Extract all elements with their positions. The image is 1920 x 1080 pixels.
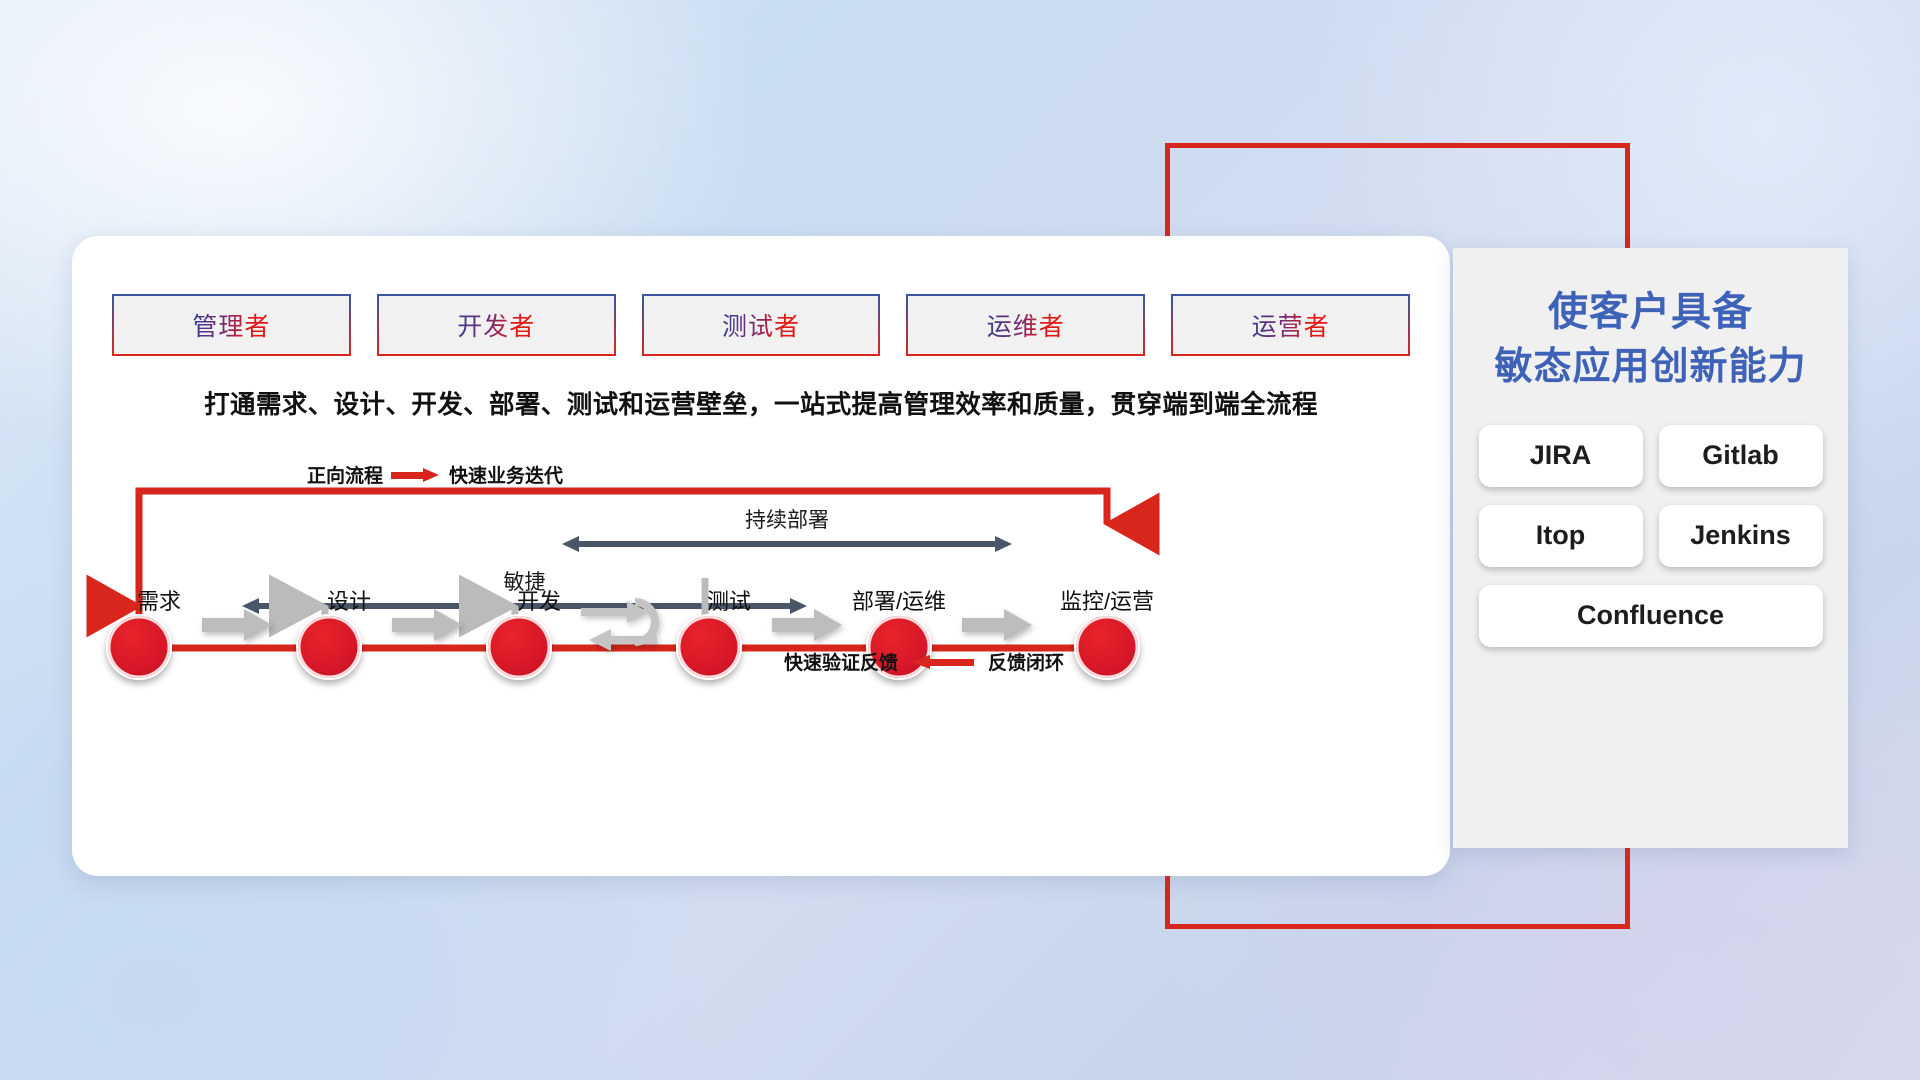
main-card: 管理者 开发者 测试者 运维者 运营者 打通需求、设计、开发、部署、测试和运营壁… bbox=[72, 236, 1450, 876]
arrow-right-icon bbox=[202, 608, 274, 642]
node-label: 开发 bbox=[517, 584, 561, 616]
node-label: 测试 bbox=[707, 584, 751, 616]
legend-feedback-loop: 快速验证反馈 反馈闭环 bbox=[784, 648, 1064, 675]
pipeline-node-monitor-operate[interactable]: 监控/运营 bbox=[1065, 584, 1149, 680]
panel-title-line2: 敏态应用创新能力 bbox=[1475, 341, 1826, 395]
node-label: 设计 bbox=[327, 584, 371, 616]
arrow-left-icon bbox=[912, 655, 974, 669]
tool-chip-gitlab[interactable]: Gitlab bbox=[1659, 425, 1823, 487]
legend-feedback-source-label: 反馈闭环 bbox=[988, 648, 1064, 675]
node-label: 部署/运维 bbox=[852, 584, 946, 616]
panel-title-line1: 使客户具备 bbox=[1475, 284, 1826, 341]
node-label: 需求 bbox=[137, 584, 181, 616]
node-dot bbox=[676, 614, 742, 680]
pipeline-node-design[interactable]: 设计 bbox=[287, 584, 371, 680]
tool-chip-jira[interactable]: JIRA bbox=[1479, 425, 1643, 487]
node-dot bbox=[486, 614, 552, 680]
node-dot bbox=[1074, 614, 1140, 680]
pipeline-node-requirements[interactable]: 需求 bbox=[97, 584, 181, 680]
panel-title: 使客户具备 敏态应用创新能力 bbox=[1475, 284, 1826, 395]
arrow-right-icon bbox=[772, 608, 844, 642]
node-label: 监控/运营 bbox=[1060, 584, 1154, 616]
node-dot bbox=[106, 614, 172, 680]
arrow-right-icon bbox=[962, 608, 1034, 642]
arrow-right-icon bbox=[392, 608, 464, 642]
capability-panel: 使客户具备 敏态应用创新能力 JIRA Gitlab Itop Jenkins … bbox=[1453, 248, 1848, 848]
tool-chip-confluence[interactable]: Confluence bbox=[1479, 585, 1823, 647]
pipeline-node-testing[interactable]: 测试 bbox=[667, 584, 751, 680]
tool-chip-jenkins[interactable]: Jenkins bbox=[1659, 505, 1823, 567]
legend-feedback-target-label: 快速验证反馈 bbox=[784, 648, 898, 675]
node-dot bbox=[296, 614, 362, 680]
loop-refresh-icon bbox=[577, 598, 661, 654]
pipeline: 需求 设计 开发 测试 部署/运维 bbox=[72, 236, 1450, 876]
pipeline-node-development[interactable]: 开发 bbox=[477, 584, 561, 680]
tool-chip-itop[interactable]: Itop bbox=[1479, 505, 1643, 567]
tools-grid: JIRA Gitlab Itop Jenkins Confluence bbox=[1475, 425, 1826, 647]
